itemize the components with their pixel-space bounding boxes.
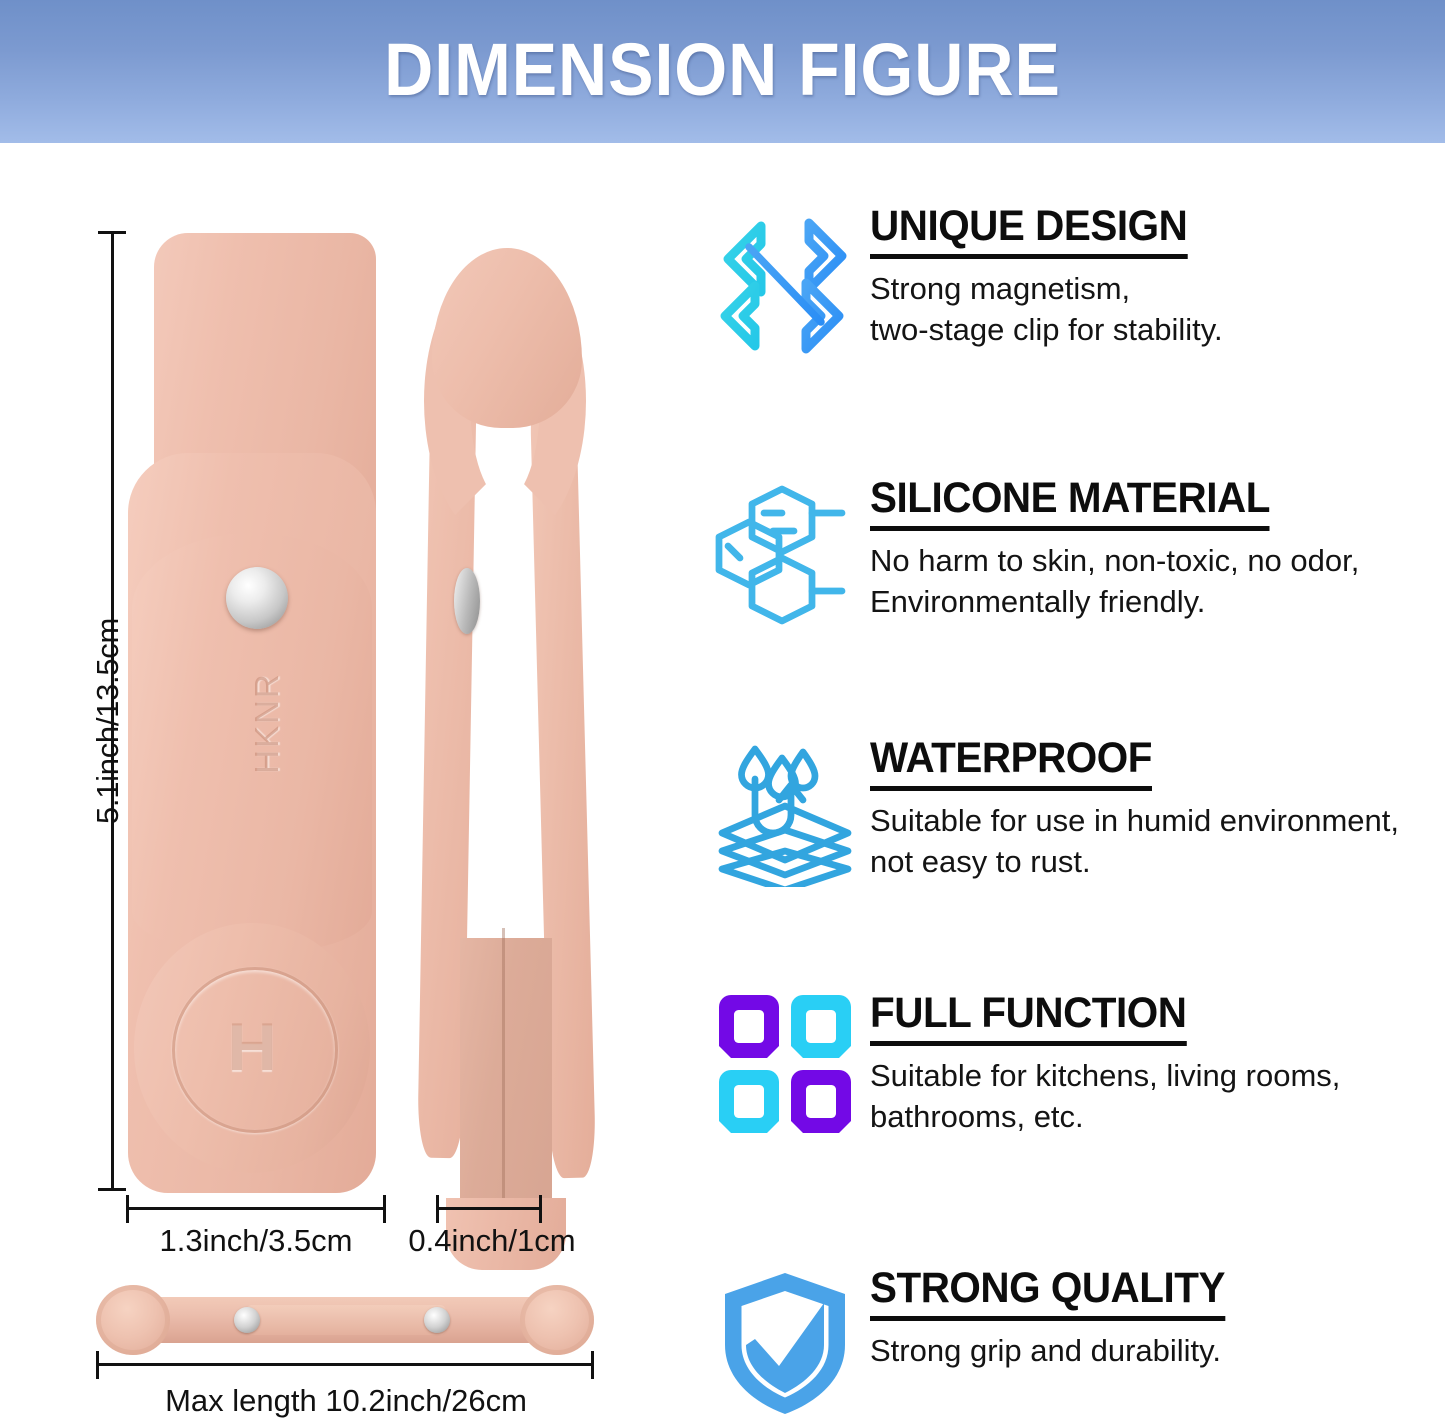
flat-snap-right bbox=[424, 1307, 450, 1333]
thickness-dimension-label: 0.4inch/1cm bbox=[404, 1223, 580, 1259]
brand-emboss-text: HKNR bbox=[248, 643, 288, 803]
feature-body: No harm to skin, non-toxic, no odor, Env… bbox=[870, 540, 1437, 622]
feature-body: Suitable for kitchens, living rooms, bat… bbox=[870, 1055, 1437, 1137]
feature-item-full-function: FULL FUNCTION Suitable for kitchens, liv… bbox=[700, 988, 1445, 1142]
feature-body-line: Strong grip and durability. bbox=[870, 1330, 1437, 1371]
feature-text-block: STRONG QUALITY Strong grip and durabilit… bbox=[870, 1263, 1445, 1371]
feature-text-block: FULL FUNCTION Suitable for kitchens, liv… bbox=[870, 988, 1445, 1137]
maxlength-dim-right-tick bbox=[591, 1351, 594, 1379]
logo-letter: H bbox=[172, 967, 332, 1127]
feature-body-line: No harm to skin, non-toxic, no odor, bbox=[870, 540, 1437, 581]
feature-body-line: Strong magnetism, bbox=[870, 268, 1437, 309]
product-dimension-diagram: 5.1inch/13.5cm H HKNR 1.3inch/3.5cm 0.4i… bbox=[0, 143, 700, 1427]
feature-text-block: UNIQUE DESIGN Strong magnetism, two-stag… bbox=[870, 201, 1445, 350]
side-folded-body bbox=[460, 938, 552, 1238]
feature-body: Strong grip and durability. bbox=[870, 1330, 1437, 1371]
flat-end-pad-right bbox=[520, 1285, 594, 1355]
maxlength-dim-line bbox=[96, 1363, 594, 1366]
metal-snap-button bbox=[226, 567, 288, 629]
feature-body-line: Environmentally friendly. bbox=[870, 581, 1437, 622]
thickness-dim-line bbox=[436, 1207, 542, 1210]
side-metal-snap bbox=[454, 568, 480, 634]
feature-title: WATERPROOF bbox=[870, 733, 1152, 791]
thickness-dim-right-tick bbox=[539, 1195, 542, 1223]
feature-body: Strong magnetism, two-stage clip for sta… bbox=[870, 268, 1437, 350]
product-flat-lay-view bbox=[96, 1283, 596, 1363]
crossed-diamond-arrows-icon bbox=[700, 201, 870, 355]
height-dim-bottom-tick bbox=[98, 1188, 126, 1191]
feature-text-block: WATERPROOF Suitable for use in humid env… bbox=[870, 733, 1445, 882]
water-droplets-layers-icon bbox=[700, 733, 870, 887]
feature-item-unique-design: UNIQUE DESIGN Strong magnetism, two-stag… bbox=[700, 201, 1445, 355]
four-rounded-squares-icon bbox=[700, 988, 870, 1142]
side-loop-top-fill bbox=[432, 248, 582, 428]
feature-title: FULL FUNCTION bbox=[870, 988, 1186, 1046]
feature-body-line: two-stage clip for stability. bbox=[870, 309, 1437, 350]
feature-body-line: bathrooms, etc. bbox=[870, 1096, 1437, 1137]
feature-item-waterproof: WATERPROOF Suitable for use in humid env… bbox=[700, 733, 1445, 887]
max-length-label: Max length 10.2inch/26cm bbox=[66, 1383, 626, 1419]
flat-snap-left bbox=[234, 1307, 260, 1333]
flat-strap-middle bbox=[246, 1305, 446, 1335]
feature-body-line: not easy to rust. bbox=[870, 841, 1437, 882]
width-dimension-label: 1.3inch/3.5cm bbox=[116, 1223, 396, 1259]
feature-body-line: Suitable for kitchens, living rooms, bbox=[870, 1055, 1437, 1096]
feature-body: Suitable for use in humid environment, n… bbox=[870, 800, 1437, 882]
feature-text-block: SILICONE MATERIAL No harm to skin, non-t… bbox=[870, 473, 1445, 622]
shield-check-icon bbox=[700, 1263, 870, 1417]
feature-body-line: Suitable for use in humid environment, bbox=[870, 800, 1437, 841]
flat-end-pad-left bbox=[96, 1285, 170, 1355]
feature-title: SILICONE MATERIAL bbox=[870, 473, 1270, 531]
feature-title: STRONG QUALITY bbox=[870, 1263, 1225, 1321]
feature-item-strong-quality: STRONG QUALITY Strong grip and durabilit… bbox=[700, 1263, 1445, 1417]
height-dimension-label: 5.1inch/13.5cm bbox=[90, 591, 126, 851]
hexagon-molecule-icon bbox=[700, 473, 870, 627]
feature-item-silicone-material: SILICONE MATERIAL No harm to skin, non-t… bbox=[700, 473, 1445, 627]
side-seam-line bbox=[502, 928, 505, 1238]
feature-list: UNIQUE DESIGN Strong magnetism, two-stag… bbox=[700, 143, 1445, 1427]
page-title: DIMENSION FIGURE bbox=[58, 30, 1387, 110]
product-side-view bbox=[418, 238, 608, 1268]
feature-title: UNIQUE DESIGN bbox=[870, 201, 1187, 259]
page-header-banner: DIMENSION FIGURE bbox=[0, 0, 1445, 143]
width-dim-right-tick bbox=[383, 1195, 386, 1223]
product-front-view: H HKNR bbox=[128, 233, 376, 1263]
width-dim-line bbox=[126, 1207, 386, 1210]
